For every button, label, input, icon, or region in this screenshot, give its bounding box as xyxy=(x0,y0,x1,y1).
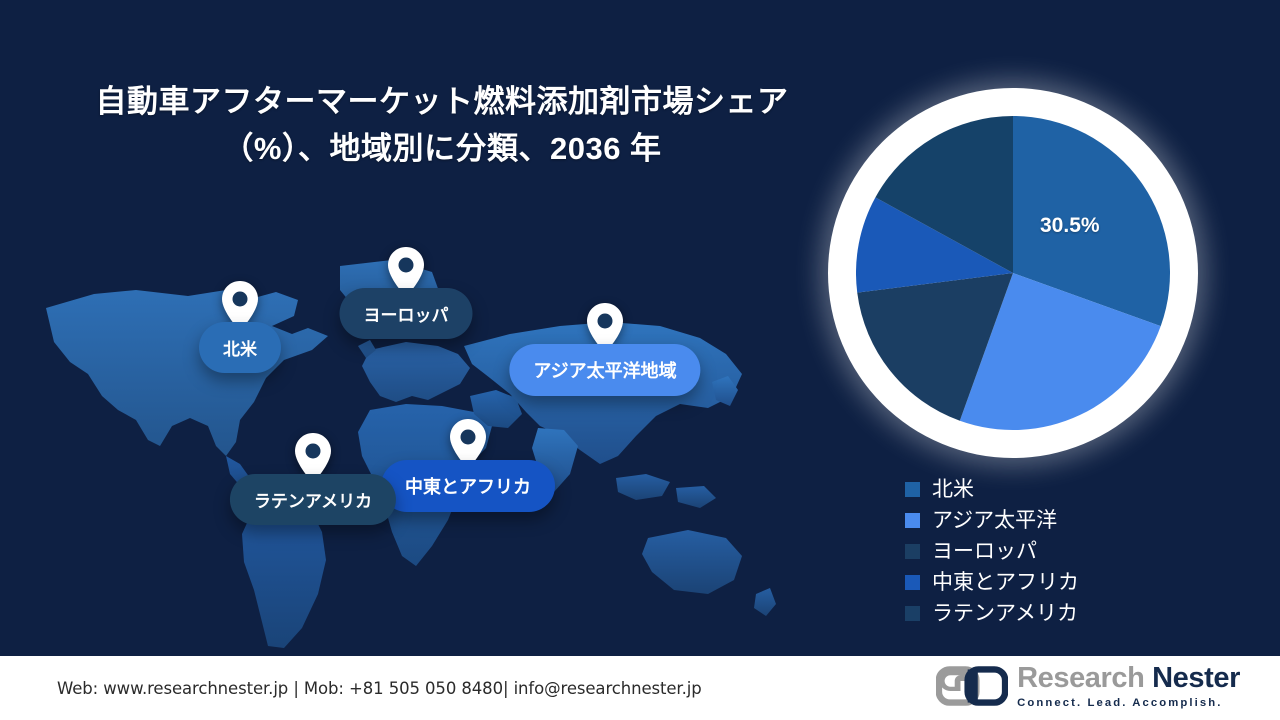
legend-label-2: ヨーロッパ xyxy=(932,541,1037,562)
footer-contact-text: Web: www.researchnester.jp | Mob: +81 50… xyxy=(57,679,702,698)
legend-label-0: 北米 xyxy=(932,479,974,500)
pie-chart-panel: 30.5% xyxy=(828,88,1198,458)
map-label-north-america: 北米 xyxy=(199,322,281,373)
legend-item-2[interactable]: ヨーロッパ xyxy=(905,536,1079,567)
legend-item-3[interactable]: 中東とアフリカ xyxy=(905,567,1079,598)
logo-word-nester: Nester xyxy=(1144,662,1240,694)
legend-item-4[interactable]: ラテンアメリカ xyxy=(905,598,1079,629)
legend-label-1: アジア太平洋 xyxy=(932,510,1057,531)
legend-swatch-3 xyxy=(905,575,920,590)
chart-legend: 北米アジア太平洋ヨーロッパ中東とアフリカラテンアメリカ xyxy=(905,474,1079,629)
company-logo[interactable]: Research Nester Connect. Lead. Accomplis… xyxy=(936,664,1240,709)
legend-item-1[interactable]: アジア太平洋 xyxy=(905,505,1079,536)
map-label-europe: ヨーロッパ xyxy=(340,288,473,339)
legend-label-4: ラテンアメリカ xyxy=(932,603,1078,624)
world-map-panel: 北米 ヨーロッパ アジア太平洋地域 中東とアフリカ ラテンアメリカ xyxy=(40,250,800,650)
page-title: 自動車アフターマーケット燃料添加剤市場シェア（%）、地域別に分類、2036 年 xyxy=(62,78,822,172)
legend-swatch-0 xyxy=(905,482,920,497)
logo-wordmark: Research Nester Connect. Lead. Accomplis… xyxy=(1017,664,1240,709)
map-label-latin-america: ラテンアメリカ xyxy=(230,474,396,525)
link-chain-logo-icon xyxy=(936,665,1008,707)
map-label-asia-pacific: アジア太平洋地域 xyxy=(509,344,700,396)
legend-label-3: 中東とアフリカ xyxy=(932,572,1079,593)
logo-word-research: Research xyxy=(1017,662,1144,694)
legend-swatch-4 xyxy=(905,606,920,621)
logo-tagline: Connect. Lead. Accomplish. xyxy=(1017,697,1240,709)
pie-slice-label-north-america: 30.5% xyxy=(1040,214,1100,238)
logo-company-name: Research Nester xyxy=(1017,664,1240,694)
legend-swatch-1 xyxy=(905,513,920,528)
pie-chart[interactable] xyxy=(856,116,1170,430)
legend-swatch-2 xyxy=(905,544,920,559)
map-label-middle-east-africa: 中東とアフリカ xyxy=(381,460,555,512)
legend-item-0[interactable]: 北米 xyxy=(905,474,1079,505)
footer-bar: Web: www.researchnester.jp | Mob: +81 50… xyxy=(0,656,1280,720)
